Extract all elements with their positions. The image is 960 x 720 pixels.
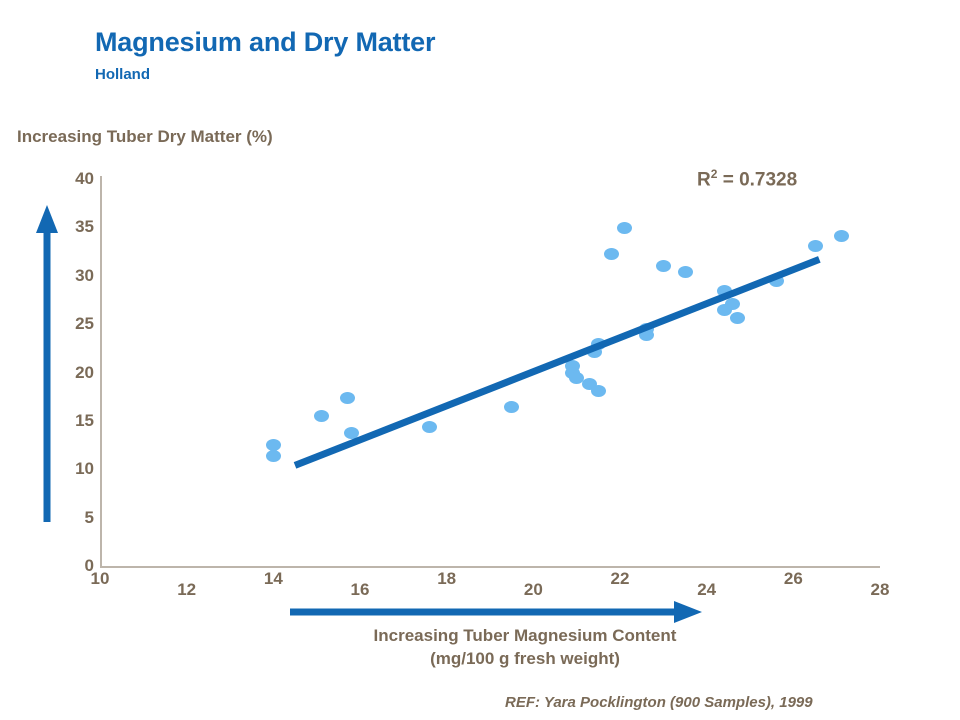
scatter-point: [422, 421, 437, 433]
scatter-point: [591, 385, 606, 397]
scatter-point: [834, 230, 849, 242]
scatter-point: [604, 248, 619, 260]
scatter-point: [678, 266, 693, 278]
chart-canvas: Magnesium and Dry Matter Holland Increas…: [0, 0, 960, 720]
scatter-point: [808, 240, 823, 252]
scatter-point: [591, 338, 606, 350]
scatter-point: [717, 285, 732, 297]
x-axis-title-line1: Increasing Tuber Magnesium Content: [240, 624, 810, 647]
scatter-point: [656, 260, 671, 272]
scatter-point: [344, 427, 359, 439]
reference-note: REF: Yara Pocklington (900 Samples), 199…: [505, 694, 813, 711]
x-axis-title: Increasing Tuber Magnesium Content (mg/1…: [240, 624, 810, 670]
scatter-point: [639, 323, 654, 335]
scatter-point: [717, 304, 732, 316]
scatter-point: [769, 275, 784, 287]
scatter-plot-area: [0, 0, 960, 720]
scatter-point: [504, 401, 519, 413]
x-axis-title-line2: (mg/100 g fresh weight): [240, 647, 810, 670]
scatter-point: [266, 450, 281, 462]
scatter-point: [617, 222, 632, 234]
scatter-point: [314, 410, 329, 422]
scatter-point: [730, 312, 745, 324]
scatter-point: [340, 392, 355, 404]
